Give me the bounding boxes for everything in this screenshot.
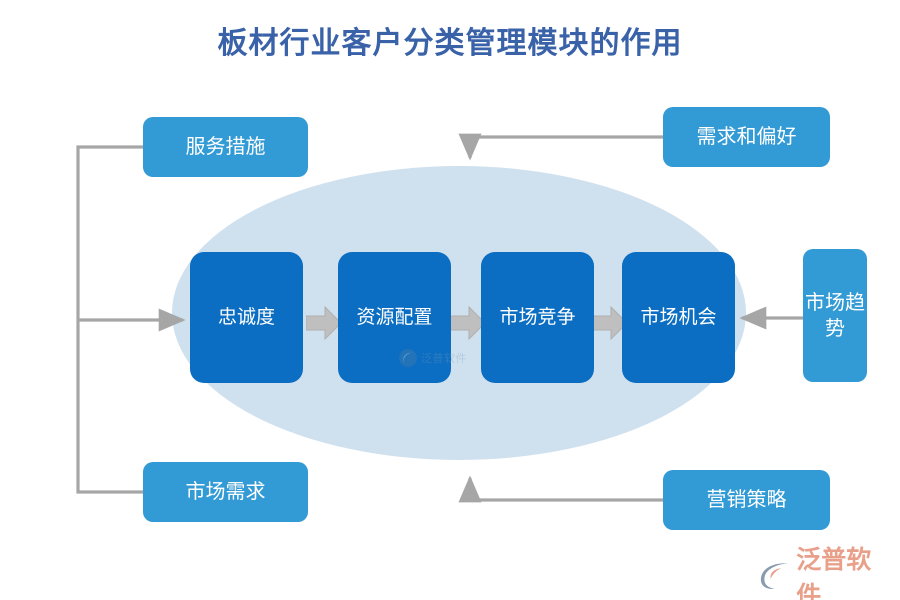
diagram-canvas: 板材行业客户分类管理模块的作用 忠诚度 资源配置 市场竞争 [0, 0, 900, 600]
node-service-measures[interactable]: 服务措施 [143, 117, 308, 177]
node-market-demand[interactable]: 市场需求 [143, 462, 308, 522]
node-loyalty[interactable]: 忠诚度 [190, 252, 303, 383]
brand-logo: 泛普软件 www.fanpusoft.com [758, 540, 894, 592]
node-market-competition[interactable]: 市场竞争 [481, 252, 594, 383]
connector-left-trunk [78, 147, 143, 492]
connector-demandpref-to-ellipse [470, 137, 663, 158]
node-market-opportunity[interactable]: 市场机会 [622, 252, 735, 383]
brand-name: 泛普软件 [796, 540, 894, 600]
node-marketing-strategy[interactable]: 营销策略 [663, 470, 830, 530]
connector-marketstrat-to-ellipse [470, 478, 663, 500]
chevron-arrow-icon-1 [306, 306, 342, 340]
node-market-trend[interactable]: 市场趋势 [803, 249, 867, 382]
page-title: 板材行业客户分类管理模块的作用 [0, 18, 900, 62]
node-demand-and-preference[interactable]: 需求和偏好 [663, 107, 830, 167]
node-resource-allocation[interactable]: 资源配置 [338, 252, 451, 383]
fanpu-swoosh-icon [758, 561, 791, 591]
